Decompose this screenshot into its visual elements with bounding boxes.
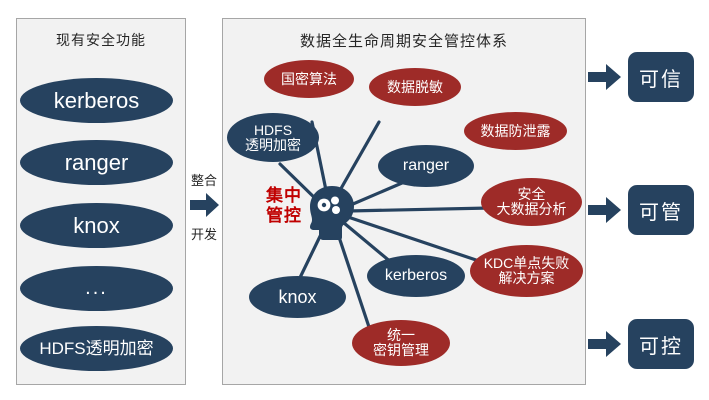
result-box-controllable[interactable]: 可控 [628,319,694,369]
node-kerberos-label: kerberos [381,268,451,285]
node-guomi-algorithm-label: 国密算法 [277,72,341,87]
left-item-ranger[interactable]: ranger [20,140,173,185]
connector-bottom-label: 开发 [186,224,222,243]
node-kdc-line2: 解决方案 [484,271,570,286]
node-security-bigdata-analysis-label: 安全 大数据分析 [493,187,571,216]
node-security-bigdata-line1: 安全 [518,186,546,202]
result-box-manageable[interactable]: 可管 [628,185,694,235]
left-item-ranger-label: ranger [61,151,133,174]
node-data-leak-prevention-label: 数据防泄露 [477,124,555,139]
left-item-knox[interactable]: knox [20,203,173,248]
node-knox[interactable]: knox [249,276,346,318]
node-unified-key-management[interactable]: 统一 密钥管理 [352,320,450,366]
node-ranger[interactable]: ranger [378,145,474,187]
node-data-leak-prevention[interactable]: 数据防泄露 [464,112,567,150]
node-key-line2: 密钥管理 [373,343,429,358]
node-key-line1: 统一 [387,327,415,343]
result-arrow-manageable-icon [588,196,622,224]
left-item-kerberos-label: kerberos [50,89,144,112]
left-item-knox-label: knox [69,214,123,237]
node-unified-key-management-label: 统一 密钥管理 [369,328,433,357]
node-kerberos[interactable]: kerberos [367,255,465,297]
left-panel-title: 现有安全功能 [17,30,185,50]
left-item-more[interactable]: ... [20,266,173,311]
left-item-more-label: ... [81,278,112,299]
result-box-manageable-label: 可管 [639,196,683,225]
node-kdc-line1: KDC单点失败 [484,255,570,271]
result-box-trustworthy[interactable]: 可信 [628,52,694,102]
node-hdfs-line1: HDFS [254,122,292,138]
hub-label: 集中 管控 [258,186,310,225]
node-kdc-spof-solution[interactable]: KDC单点失败 解决方案 [470,245,583,297]
node-hdfs-line2: 透明加密 [245,138,301,153]
node-hdfs-transparent-encryption-label: HDFS 透明加密 [241,123,305,152]
node-data-masking-label: 数据脱敏 [383,80,447,95]
node-kdc-spof-solution-label: KDC单点失败 解决方案 [480,256,574,285]
connector-top-label: 整合 [186,170,222,189]
center-panel-title: 数据全生命周期安全管控体系 [223,30,585,51]
result-box-trustworthy-label: 可信 [639,63,683,92]
node-hdfs-transparent-encryption[interactable]: HDFS 透明加密 [227,113,319,162]
left-item-hdfs-encryption-label: HDFS透明加密 [35,340,157,358]
diagram-canvas: 现有安全功能 kerberos ranger knox ... HDFS透明加密… [0,0,709,400]
node-security-bigdata-analysis[interactable]: 安全 大数据分析 [481,178,582,226]
result-arrow-trustworthy-icon [588,63,622,91]
hub-label-line2: 管控 [258,206,310,226]
left-item-hdfs-encryption[interactable]: HDFS透明加密 [20,326,173,371]
hub-label-line1: 集中 [258,186,310,206]
node-ranger-label: ranger [399,158,453,175]
left-item-kerberos[interactable]: kerberos [20,78,173,123]
result-box-controllable-label: 可控 [639,330,683,359]
result-arrow-controllable-icon [588,330,622,358]
node-security-bigdata-line2: 大数据分析 [497,202,567,217]
node-guomi-algorithm[interactable]: 国密算法 [264,60,354,98]
right-arrow-icon [190,192,220,218]
node-knox-label: knox [274,288,320,307]
head-gear-icon [306,184,358,242]
node-data-masking[interactable]: 数据脱敏 [369,68,461,106]
